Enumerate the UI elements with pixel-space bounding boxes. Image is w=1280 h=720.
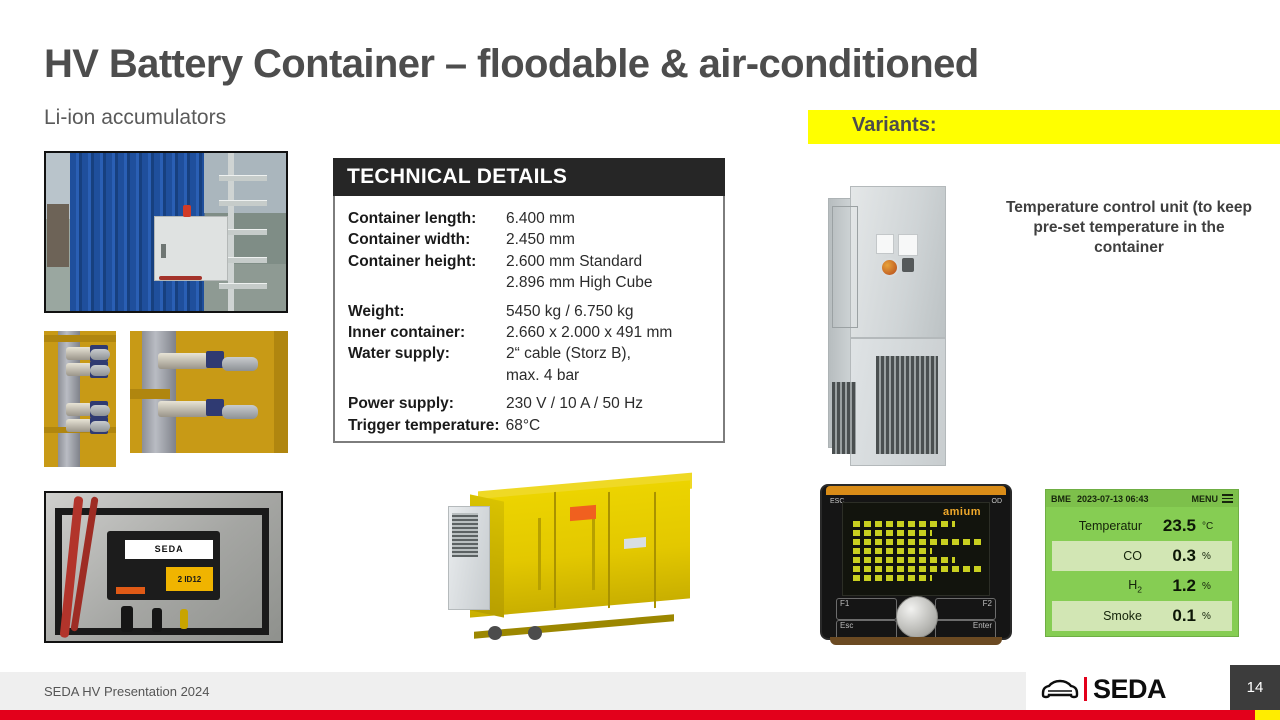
- page-subtitle: Li-ion accumulators: [44, 106, 226, 130]
- cad-render-connectors-side: [44, 331, 116, 467]
- amium-button-f1[interactable]: F1: [836, 598, 897, 620]
- tech-label: Container height:: [348, 251, 506, 272]
- amium-display: amium: [842, 502, 990, 596]
- tech-value: 2.660 x 2.000 x 491 mm: [506, 322, 672, 343]
- cad-render-connectors-detail: [130, 331, 288, 453]
- tech-row: Trigger temperature:68°C: [348, 415, 723, 436]
- tech-row: Container width:2.450 mm: [348, 229, 723, 250]
- sensor-readout-panel: BME 2023-07-13 06:43 MENU Temperatur 23.…: [1045, 489, 1239, 637]
- sensor-row-temperature: Temperatur 23.5 °C: [1052, 511, 1232, 541]
- variants-label: Variants:: [852, 114, 936, 137]
- sensor-unit: %: [1196, 551, 1228, 562]
- photo-amium-controller: ESC OD amium F1 F2 Esc Enter: [820, 484, 1012, 640]
- technical-details-body: Container length:6.400 mm Container widt…: [335, 198, 723, 441]
- tech-value: 68°C: [500, 415, 541, 436]
- photo-seda-control-box: SEDA 2 ID12: [44, 491, 283, 643]
- logo-wordmark: SEDA: [1093, 674, 1166, 705]
- tech-row: Weight:5450 kg / 6.750 kg: [348, 301, 723, 322]
- logo-divider: [1084, 677, 1087, 701]
- tech-value: 2.450 mm: [506, 229, 575, 250]
- tech-label: Trigger temperature:: [348, 415, 500, 436]
- seda-logo-small: SEDA: [125, 540, 213, 559]
- tech-label: Container length:: [348, 208, 506, 229]
- tech-value: 2“ cable (Storz B),: [506, 343, 631, 364]
- photo-yellow-battery-container: [418, 478, 704, 640]
- tech-label: Power supply:: [348, 393, 506, 414]
- tech-row: Container length:6.400 mm: [348, 208, 723, 229]
- sensor-timestamp: 2023-07-13 06:43: [1077, 494, 1149, 504]
- tech-value: 2.600 mm Standard: [506, 251, 642, 272]
- photo-blue-container-wall: [44, 151, 288, 313]
- sensor-name: CO: [1056, 549, 1150, 563]
- tech-label: Container width:: [348, 229, 506, 250]
- seda-logo: SEDA: [1026, 668, 1230, 710]
- page-title: HV Battery Container – floodable & air-c…: [44, 42, 1164, 86]
- emergency-switch-icon: [880, 258, 899, 277]
- amium-button-f2[interactable]: F2: [935, 598, 996, 620]
- tech-value-continued: max. 4 bar: [348, 365, 723, 386]
- sensor-value: 0.1: [1150, 606, 1196, 626]
- footer-text: SEDA HV Presentation 2024: [44, 684, 210, 699]
- page-number: 14: [1230, 665, 1280, 710]
- tech-value: 6.400 mm: [506, 208, 575, 229]
- sensor-menu-label: MENU: [1192, 494, 1219, 504]
- footer-accent-yellow: [1255, 710, 1280, 720]
- sensor-device-label: BME: [1051, 494, 1071, 504]
- sensor-name: H2: [1056, 578, 1150, 595]
- sensor-panel-header: BME 2023-07-13 06:43 MENU: [1046, 490, 1238, 507]
- tech-row: Power supply:230 V / 10 A / 50 Hz: [348, 393, 723, 414]
- id-plate-label: 2 ID12: [166, 567, 213, 592]
- sensor-unit: °C: [1196, 521, 1228, 532]
- sensor-value: 1.2: [1150, 576, 1196, 596]
- sensor-value: 0.3: [1150, 546, 1196, 566]
- variants-banner: Variants:: [808, 110, 1280, 144]
- photo-temperature-control-unit: [828, 186, 946, 466]
- slide-canvas: HV Battery Container – floodable & air-c…: [0, 0, 1280, 720]
- sensor-row-h2: H2 1.2 %: [1052, 571, 1232, 601]
- tech-value: 5450 kg / 6.750 kg: [506, 301, 634, 322]
- amium-corner-right: OD: [992, 498, 1003, 505]
- sensor-value: 23.5: [1150, 516, 1196, 536]
- tech-value: 230 V / 10 A / 50 Hz: [506, 393, 643, 414]
- sensor-row-co: CO 0.3 %: [1052, 541, 1232, 571]
- car-icon: [1040, 679, 1080, 699]
- sensor-name: Smoke: [1056, 609, 1150, 623]
- tech-label: Water supply:: [348, 343, 506, 364]
- tech-label: Inner container:: [348, 322, 506, 343]
- tech-value-continued: 2.896 mm High Cube: [348, 272, 723, 293]
- footer-accent-red: [0, 710, 1255, 720]
- sensor-row-smoke: Smoke 0.1 %: [1052, 601, 1232, 631]
- tech-row: Water supply:2“ cable (Storz B),: [348, 343, 723, 364]
- tech-label: Weight:: [348, 301, 506, 322]
- variant-description: Temperature control unit (to keep pre-se…: [1000, 198, 1258, 258]
- sensor-name: Temperatur: [1056, 519, 1150, 533]
- hamburger-menu-icon[interactable]: [1222, 492, 1233, 505]
- sensor-menu-button[interactable]: MENU: [1192, 492, 1234, 505]
- amium-brand-label: amium: [943, 506, 981, 518]
- tech-row: Container height:2.600 mm Standard: [348, 251, 723, 272]
- tech-row: Inner container:2.660 x 2.000 x 491 mm: [348, 322, 723, 343]
- amium-rotary-knob[interactable]: [896, 596, 938, 638]
- sensor-unit: %: [1196, 581, 1228, 592]
- sensor-unit: %: [1196, 611, 1228, 622]
- technical-details-heading: TECHNICAL DETAILS: [333, 158, 725, 196]
- technical-details-card: TECHNICAL DETAILS Container length:6.400…: [333, 158, 725, 443]
